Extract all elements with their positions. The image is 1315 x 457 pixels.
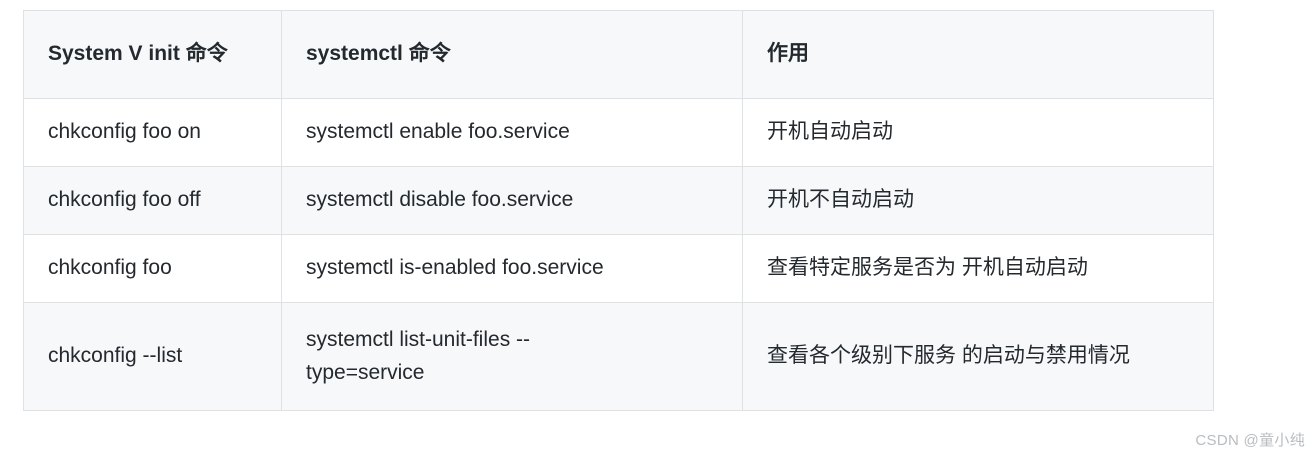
table-row: chkconfig --list systemctl list-unit-fil…	[24, 303, 1214, 411]
cell-effect: 查看各个级别下服务 的启动与禁用情况	[743, 303, 1214, 411]
cell-systemctl-command-text: systemctl list-unit-files --type=service	[306, 324, 636, 389]
cell-sysv-command: chkconfig foo	[24, 235, 282, 303]
cell-sysv-command: chkconfig foo on	[24, 99, 282, 167]
cell-effect-text: 查看各个级别下服务 的启动与禁用情况	[767, 340, 1167, 373]
sysv-systemctl-comparison-table: System V init 命令 systemctl 命令 作用 chkconf…	[23, 10, 1214, 411]
cell-sysv-command: chkconfig --list	[24, 303, 282, 411]
cell-systemctl-command: systemctl is-enabled foo.service	[282, 235, 743, 303]
comparison-table-container: System V init 命令 systemctl 命令 作用 chkconf…	[23, 10, 1213, 411]
table-row: chkconfig foo systemctl is-enabled foo.s…	[24, 235, 1214, 303]
cell-systemctl-command: systemctl enable foo.service	[282, 99, 743, 167]
table-header: System V init 命令 systemctl 命令 作用	[24, 11, 1214, 99]
cell-effect: 开机不自动启动	[743, 167, 1214, 235]
table-body: chkconfig foo on systemctl enable foo.se…	[24, 99, 1214, 411]
cell-effect: 查看特定服务是否为 开机自动启动	[743, 235, 1214, 303]
table-row: chkconfig foo on systemctl enable foo.se…	[24, 99, 1214, 167]
column-header-systemctl: systemctl 命令	[282, 11, 743, 99]
cell-systemctl-command: systemctl list-unit-files --type=service	[282, 303, 743, 411]
table-row: chkconfig foo off systemctl disable foo.…	[24, 167, 1214, 235]
cell-systemctl-command: systemctl disable foo.service	[282, 167, 743, 235]
cell-effect: 开机自动启动	[743, 99, 1214, 167]
csdn-watermark: CSDN @童小纯	[1195, 429, 1305, 450]
column-header-effect: 作用	[743, 11, 1214, 99]
cell-sysv-command: chkconfig foo off	[24, 167, 282, 235]
table-header-row: System V init 命令 systemctl 命令 作用	[24, 11, 1214, 99]
column-header-sysv: System V init 命令	[24, 11, 282, 99]
